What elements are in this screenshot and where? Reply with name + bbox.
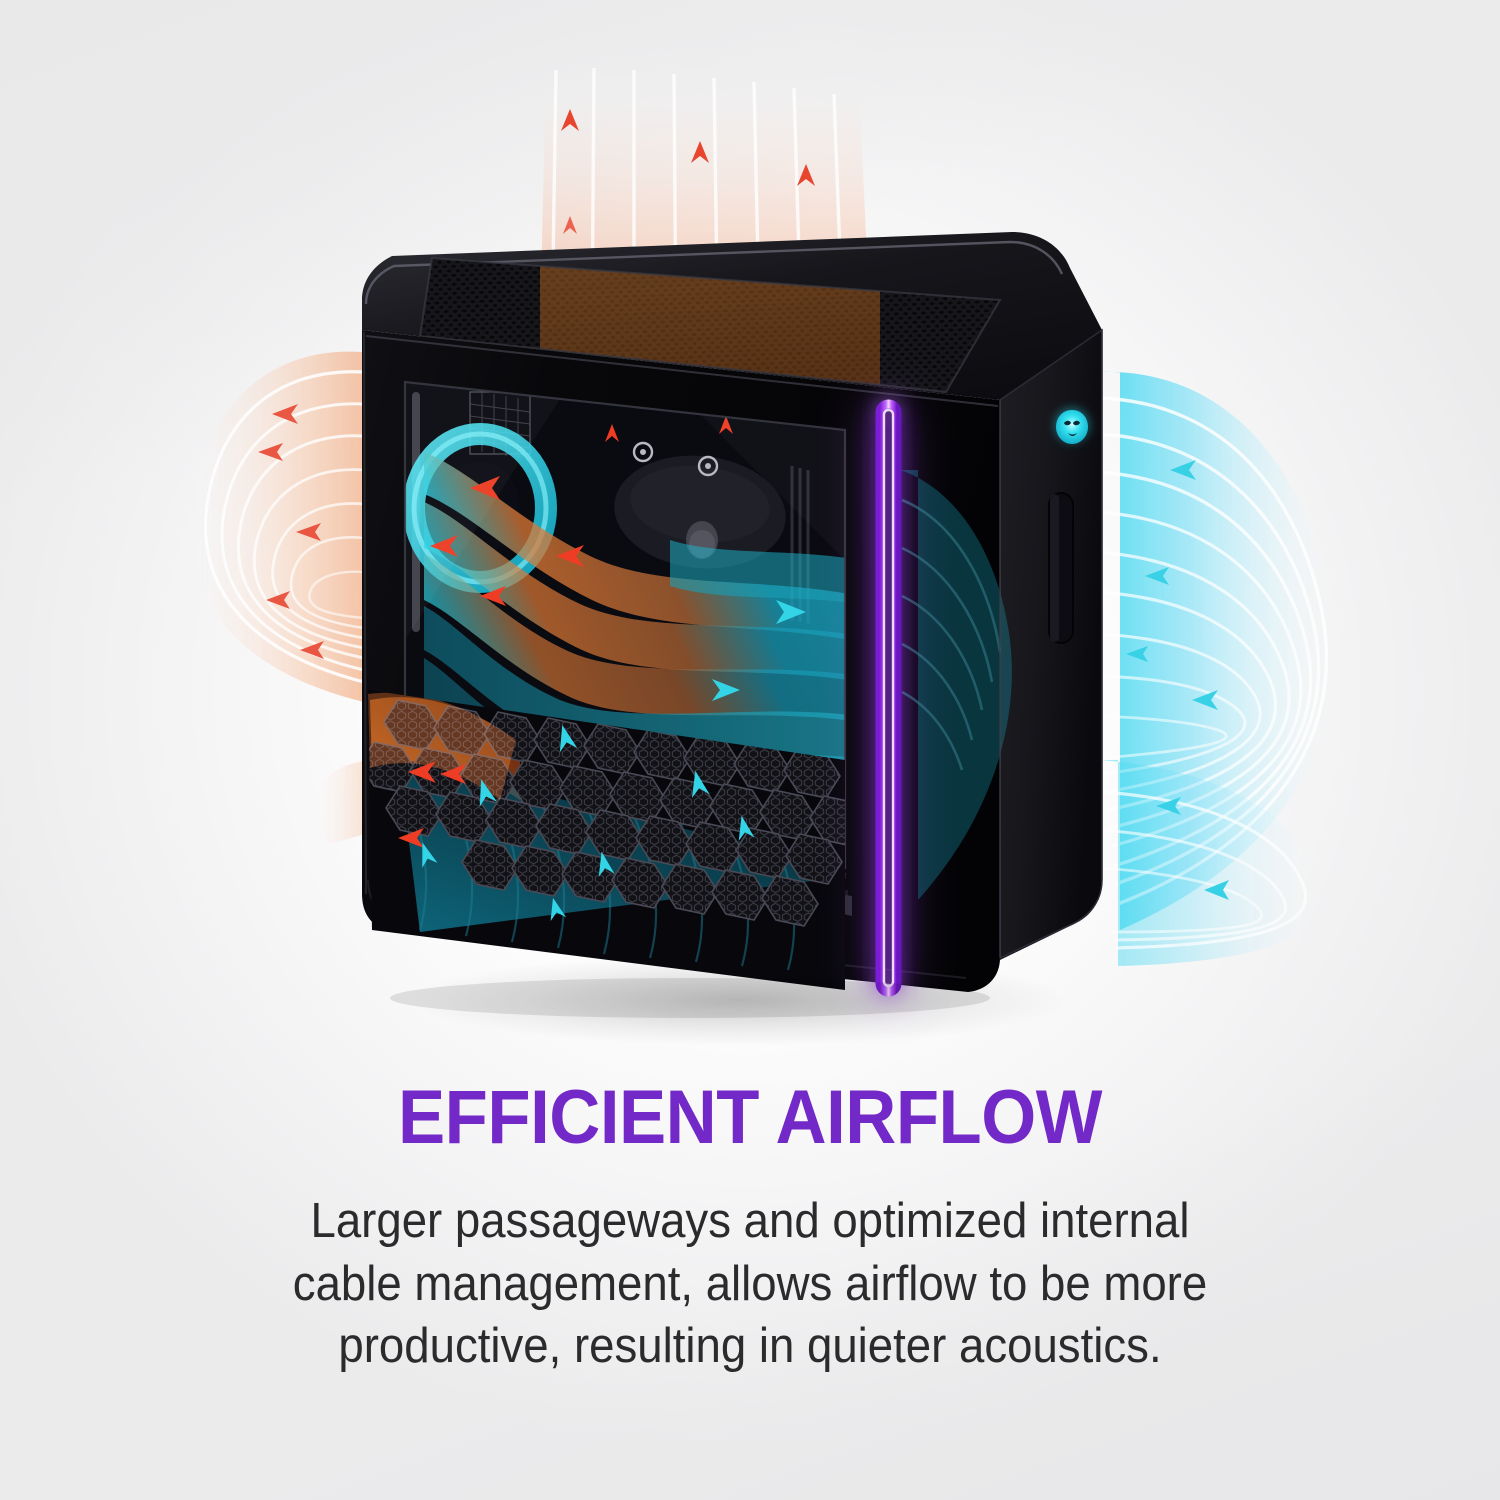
product-illustration	[0, 0, 1500, 1060]
description-line-3: productive, resulting in quieter acousti…	[146, 1315, 1355, 1378]
description-line-2: cable management, allows airflow to be m…	[146, 1253, 1355, 1316]
product-feature-card: EFFICIENT AIRFLOW Larger passageways and…	[0, 0, 1500, 1500]
description-line-1: Larger passageways and optimized interna…	[146, 1190, 1355, 1253]
airflow-stream-right-intake	[1098, 372, 1334, 966]
page-title: EFFICIENT AIRFLOW	[53, 1080, 1448, 1156]
caption-block: EFFICIENT AIRFLOW Larger passageways and…	[0, 1080, 1500, 1378]
description-text: Larger passageways and optimized interna…	[146, 1190, 1355, 1378]
rgb-light-strip	[872, 400, 902, 1000]
side-panel-handle-slot	[1048, 492, 1074, 644]
